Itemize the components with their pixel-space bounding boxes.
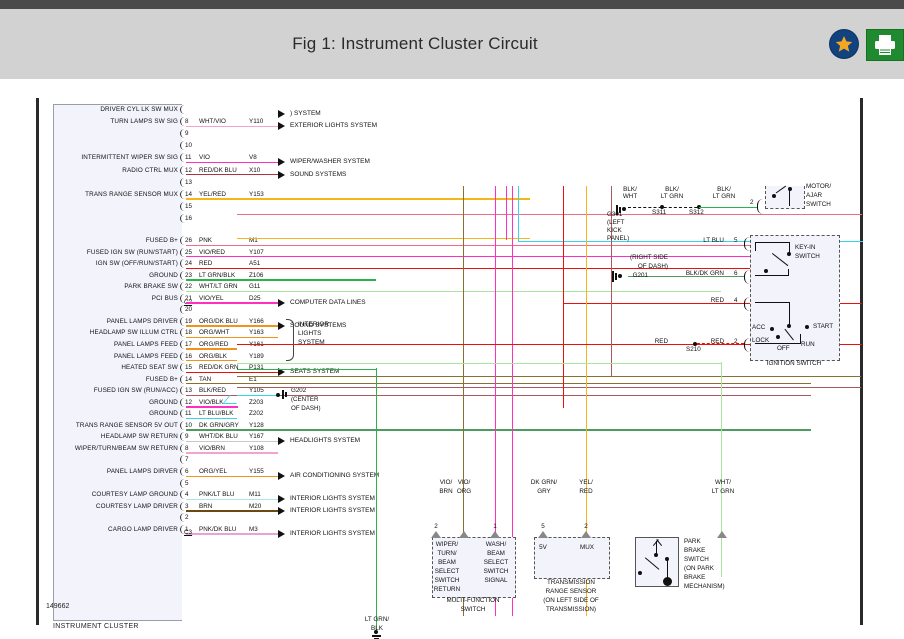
pin-function-label: PANEL LAMPS FEED: [0, 353, 178, 361]
wire-line: [186, 372, 278, 373]
destination-arrow: [278, 322, 285, 330]
wire-trunk-run: [186, 198, 530, 199]
s312-to-switch: [699, 207, 757, 208]
trunk-tan: [237, 376, 861, 377]
pin-function-label: PANEL LAMPS DIRVER: [0, 468, 178, 476]
trs-wire5-c2: GRY: [524, 488, 564, 497]
pin-function-label: PCI BUS: [0, 295, 178, 303]
ign-tick-6: [744, 270, 751, 284]
g202-bend: [222, 395, 244, 404]
wht-ltgrn-run: [237, 363, 722, 364]
trs-title1: TRANSMISSION: [526, 579, 616, 588]
lock-label: LOCK: [752, 337, 769, 346]
g202-sym-b: [285, 392, 287, 397]
wiring-diagram-canvas: INSTRUMENT CLUSTER 149662 DRIVER CYL LK …: [0, 79, 904, 639]
g202-name: G202: [291, 387, 306, 394]
connector-c3-label: C3: [184, 529, 192, 537]
trunk-blk-red: [237, 387, 861, 388]
destination-arrow: [278, 158, 285, 166]
motor-ajar-switch-box: [765, 186, 805, 209]
connector-terminal-tick: [180, 105, 185, 114]
destination-arrow: [278, 299, 285, 307]
wire-trunk-run: [186, 418, 230, 419]
trs-5v: 5V: [533, 544, 553, 553]
circuit-number: Z202: [249, 410, 263, 418]
destination-system-label: AIR CONDITIONING SYSTEM: [290, 471, 379, 480]
diagram-right-border: [860, 98, 863, 625]
diagram-left-border: [36, 98, 39, 625]
g201-name: G201: [580, 272, 648, 281]
ign-tick-2: [744, 338, 751, 352]
pin-function-label: GROUND: [0, 399, 178, 407]
mfs-fn2-l5: SWITCH: [428, 577, 466, 586]
keyin-l1: KEY-IN: [795, 244, 815, 253]
ign-pin5-wire: LT BLU: [672, 237, 724, 246]
pb-wire-c2: LT GRN: [703, 488, 743, 497]
destination-arrow: [278, 437, 285, 445]
wire-line: [186, 476, 278, 477]
ign-top-bar: [755, 302, 790, 303]
pb-l4: (ON PARK: [684, 565, 714, 574]
pb-l6: MECHANISM): [684, 583, 725, 592]
trs-term5: [538, 531, 548, 538]
s311-label: S311: [652, 209, 666, 218]
pin-function-label: FUSED B+: [0, 376, 178, 384]
pin-number: 13: [185, 179, 192, 187]
s210-dot: [693, 342, 697, 346]
mfs-wire1-c1: VIO/: [446, 479, 482, 488]
pin-function-label: TURN LAMPS SW SIG: [0, 118, 178, 126]
instrument-cluster-box: [53, 104, 182, 621]
pin-function-label: DRIVER CYL LK SW MUX: [0, 106, 178, 114]
ltgrn-blk-c1: LT GRN/: [350, 616, 404, 625]
g201-loc1: (RIGHT SIDE: [588, 254, 668, 263]
pin-function-label: PARK BRAKE SW: [0, 283, 178, 291]
run-label: RUN: [801, 341, 815, 350]
destination-system-label: HEADLIGHTS SYSTEM: [290, 436, 360, 445]
mfs-wire1-c2: ORG: [446, 488, 482, 497]
destination-system-label: COMPUTER DATA LINES: [290, 298, 366, 307]
pb-wire-c1: WHT/: [703, 479, 743, 488]
page-title: Fig 1: Instrument Cluster Circuit: [0, 34, 830, 54]
trs-term2: [581, 531, 591, 538]
mfs-fn1-l5: SIGNAL: [476, 577, 516, 586]
s311-dot: [660, 205, 664, 209]
blk-wht-c2: WHT: [612, 193, 648, 202]
riser-vio-a: [506, 186, 507, 240]
keyin-contact-bot: [764, 269, 768, 273]
ajar-l3: SWITCH: [806, 201, 831, 210]
destination-arrow: [278, 122, 285, 130]
destination-arrow: [278, 495, 285, 503]
interior-lights-line1: INTERIOR: [298, 320, 329, 329]
pb-ground-blob: [663, 577, 672, 586]
wire-trunk-run: [186, 429, 811, 430]
ign-pin4-wire: RED: [686, 297, 724, 306]
pin-function-label: COURTESY LAMP DRIVER: [0, 503, 178, 511]
ajar-contact-a: [772, 194, 776, 198]
keyin-top: [755, 242, 790, 243]
ign-pin5-num: 5: [734, 237, 738, 246]
destination-system-label: WIPER/WASHER SYSTEM: [290, 157, 370, 166]
ajar-connector-tick: [757, 199, 764, 214]
wire-line: [186, 348, 237, 349]
window-top-bar: [0, 0, 904, 9]
pin-function-label: INTERMITTENT WIPER SW SIG: [0, 154, 178, 162]
wire-trunk-run: [186, 337, 278, 338]
circuit-number: Y189: [249, 353, 264, 361]
pin-function-label: FUSED IGN SW (RUN/START): [0, 249, 178, 257]
pin-function-label: WIPER/TURN/BEAM SW RETURN: [0, 445, 178, 453]
wire-line: [186, 162, 278, 163]
interior-lights-brace: [286, 319, 294, 361]
destination-system-label: INTERIOR LIGHTS SYSTEM: [290, 506, 375, 515]
pb-l5: BRAKE: [684, 574, 705, 583]
ign-pin6-num: 6: [734, 270, 738, 279]
s312-label: S312: [689, 209, 704, 218]
pin-function-label: FUSED IGN SW (RUN/ACC): [0, 387, 178, 395]
pin-function-label: IGN SW (OFF/RUN/START): [0, 260, 178, 268]
mfs-fn1-l3: SELECT: [476, 559, 516, 568]
pin-function-label: HEATED SEAT SW: [0, 364, 178, 372]
trs-mux: MUX: [574, 544, 600, 553]
mfs-fn2-l6: RETURN: [428, 586, 466, 595]
destination-system-label: INTERIOR LIGHTS SYSTEM: [290, 529, 375, 538]
pin-number: 16: [185, 215, 192, 223]
circuit-number: Z203: [249, 399, 263, 407]
pin-function-label: CARGO LAMP DRIVER: [0, 526, 178, 534]
pb-contact-bot: [638, 571, 642, 575]
mfs-fn2-l4: SELECT: [428, 568, 466, 577]
destination-system-label: INTERIOR LIGHTS SYSTEM: [290, 494, 375, 503]
riser-ltgrn-blk: [376, 368, 377, 630]
wire-trunk-run: [186, 256, 811, 257]
trs-title2: RANGE SENSOR: [526, 588, 616, 597]
ltgrn-blk-run: [237, 369, 377, 370]
wire-line: [186, 174, 278, 175]
ajar-pin-number: 2: [750, 199, 754, 208]
start-terminal: [805, 325, 809, 329]
pin-function-label: TRANS RANGE SENSOR MUX: [0, 191, 178, 199]
circuit-number: Y161: [249, 341, 264, 349]
ajar-drop: [789, 189, 790, 206]
g202-loc-1: (CENTER: [291, 396, 319, 403]
g202-dot: [276, 393, 280, 397]
g202-loc-2: OF DASH): [291, 405, 321, 412]
riser-ltblu: [518, 186, 519, 242]
destination-arrow: [278, 110, 285, 118]
page-header: Fig 1: Instrument Cluster Circuit: [0, 9, 904, 79]
destination-system-label: SOUND SYSTEMS: [290, 170, 346, 179]
trs-title4: TRANSMISSION): [522, 606, 620, 615]
keyin-l2: SWITCH: [795, 253, 820, 262]
pin-function-label: COURTESY LAMP GROUND: [0, 491, 178, 499]
g201-loc2: OF DASH): [588, 263, 668, 272]
mfs-term1: [490, 531, 500, 538]
mfs-fn1-l1: WASH/: [478, 541, 514, 550]
figure-number: 149662: [46, 603, 69, 610]
wire-trunk-run: [186, 383, 811, 384]
instrument-cluster-caption: INSTRUMENT CLUSTER: [53, 623, 139, 630]
keyin-bottom: [755, 275, 789, 276]
pin-number: 5: [185, 480, 189, 488]
trs-term-extra: [459, 531, 469, 538]
destination-arrow: [278, 507, 285, 515]
ign-pin2-wire-left: RED: [630, 338, 668, 347]
g301-loc3: PANEL): [607, 235, 629, 244]
pin-function-label: PANEL LAMPS DRIVER: [0, 318, 178, 326]
wire-line: [186, 441, 278, 442]
destination-arrow: [278, 472, 285, 480]
destination-arrow: [278, 530, 285, 538]
riser-red-a: [563, 186, 564, 408]
keyin-contact-top: [787, 252, 791, 256]
mfs-fn1-l2: BEAM: [478, 550, 514, 559]
ign-pivot: [787, 324, 791, 328]
pin-function-label: TRANS RANGE SENSOR 5V OUT: [0, 422, 178, 430]
pin-function-label: FUSED B+: [0, 237, 178, 245]
wire-line: [186, 325, 278, 326]
pb-l1: PARK: [684, 538, 701, 547]
pin-number: 7: [185, 456, 189, 464]
trs-wire5-c1: DK GRN/: [524, 479, 564, 488]
trunk-pnk: [237, 214, 862, 215]
off-label: OFF: [777, 345, 790, 354]
pb-term: [717, 531, 727, 538]
mfs-fn2-l1: WIPER/: [430, 541, 464, 550]
keyin-bot-riser: [788, 269, 789, 276]
ajar-l1: MOTOR/: [806, 183, 831, 192]
star-favorite-icon[interactable]: [830, 30, 858, 58]
destination-system-label: ) SYSTEM: [290, 109, 321, 118]
acc-label: ACC: [752, 324, 765, 333]
wire-line: [186, 126, 278, 127]
wire-line: [186, 499, 278, 500]
wire-line: [186, 510, 278, 511]
trs-title3: (ON LEFT SIDE OF: [522, 597, 620, 606]
pin-number: 2: [185, 514, 189, 522]
wire-trunk-run: [186, 406, 238, 407]
pin-function-label: PANEL LAMPS FEED: [0, 341, 178, 349]
ign-tick-4: [744, 297, 751, 311]
blk-ltgrn2-c2: LT GRN: [703, 193, 745, 202]
ajar-l2: AJAR: [806, 192, 822, 201]
mfs-fn1-l4: SWITCH: [476, 568, 516, 577]
pin-function-label: GROUND: [0, 410, 178, 418]
wire-trunk-run: [186, 268, 811, 269]
pin-function-label: HEADLAMP SW ILLUM CTRL: [0, 329, 178, 337]
trs-wire2-c2: RED: [566, 488, 606, 497]
trs-wire2-c1: YEL/: [566, 479, 606, 488]
wire-line: [186, 533, 278, 534]
printer-icon[interactable]: [866, 29, 904, 61]
mfs-fn2-l3: BEAM: [430, 559, 464, 568]
acc-terminal: [770, 327, 774, 331]
pin-number: 20: [185, 306, 192, 314]
wire-trunk-run: [186, 279, 376, 280]
mfs-title2: SWITCH: [430, 606, 516, 615]
pb-contact-top: [654, 553, 658, 557]
wire-line: [186, 302, 278, 303]
destination-arrow: [278, 171, 285, 179]
blk-ltgrn1-c2: LT GRN: [652, 193, 692, 202]
ign-right-drop: [789, 302, 790, 326]
wire-trunk-run: [186, 452, 278, 453]
destination-system-label: EXTERIOR LIGHTS SYSTEM: [290, 121, 377, 130]
interior-lights-line2: LIGHTS: [298, 329, 321, 338]
mfs-term2: [431, 531, 441, 538]
pin-function-label: GROUND: [0, 272, 178, 280]
mfs-fn2-l2: TURN/: [430, 550, 464, 559]
mfs-title1: MULTI-FUNCTION: [430, 597, 516, 606]
pin-function-label: RADIO CTRL MUX: [0, 167, 178, 175]
red-dashed-segment: [697, 343, 744, 344]
wire-line: [186, 360, 237, 361]
ign-tick-5: [744, 237, 751, 251]
g202-sym-a: [282, 390, 284, 399]
ign-pin4-num: 4: [734, 297, 738, 306]
start-label: START: [813, 323, 833, 332]
trunk-yel-red: [237, 238, 530, 239]
pin-number: 15: [185, 203, 192, 211]
pb-l3: SWITCH: [684, 556, 709, 565]
s210-label: S210: [686, 346, 701, 355]
lock-terminal: [776, 335, 780, 339]
ignition-switch-title: IGNITION SWITCH: [748, 360, 840, 369]
pin-number: 9: [185, 130, 189, 138]
interior-lights-line3: SYSTEM: [298, 338, 325, 347]
pin-function-label: HEADLAMP SW RETURN: [0, 433, 178, 441]
riser-wht-ltgrn: [721, 362, 722, 577]
pb-l2: BRAKE: [684, 547, 705, 556]
screenshot-root: Fig 1: Instrument Cluster Circuit INSTRU…: [0, 0, 904, 639]
pin-number: 10: [185, 142, 192, 150]
